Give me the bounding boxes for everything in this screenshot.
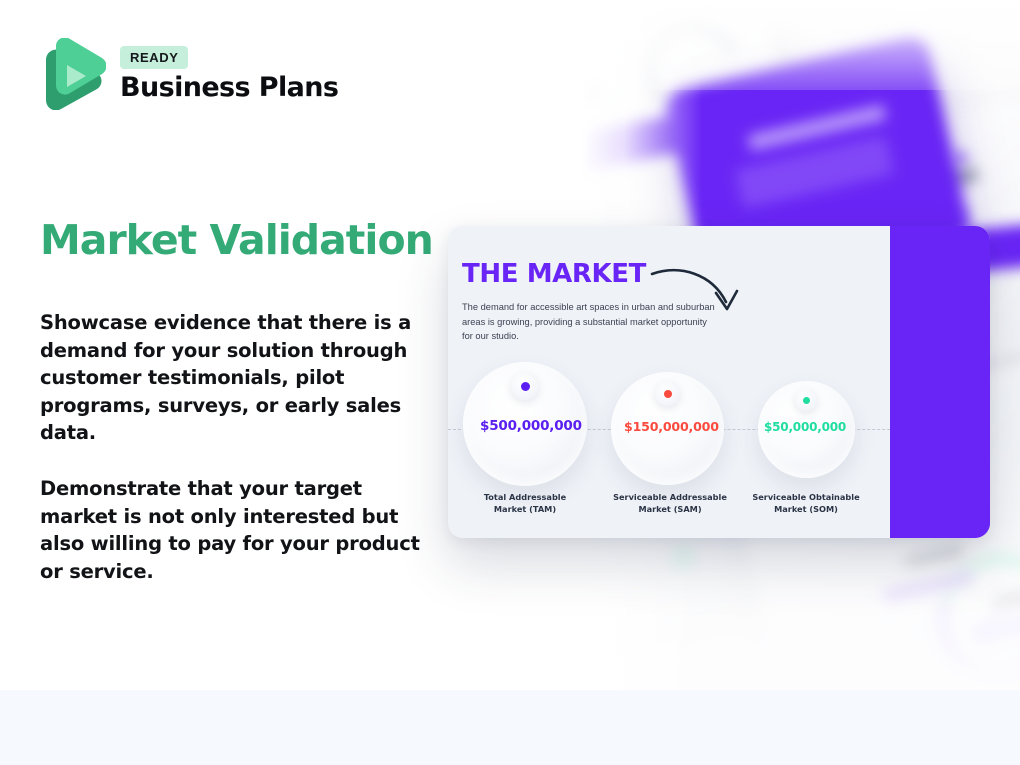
market-amount-tam: $500,000,000	[480, 418, 582, 434]
market-label-som: Serviceable Obtainable Market (SOM)	[726, 491, 886, 515]
bubble-knob	[511, 372, 539, 400]
market-label-tam-line2: Market (TAM)	[445, 503, 605, 515]
bubble-knob	[655, 381, 680, 406]
play-triangle-logo-icon	[40, 38, 106, 110]
slide-title: THE MARKET	[462, 259, 646, 289]
brand-text-block: READY Business Plans	[120, 46, 338, 103]
market-dot-tam-icon	[521, 382, 530, 391]
brand-name: Business Plans	[120, 72, 338, 103]
market-label-tam-line1: Total Addressable	[445, 491, 605, 503]
curved-down-arrow-icon	[650, 266, 742, 327]
bg-dot-one	[954, 152, 967, 165]
market-label-som-line1: Serviceable Obtainable	[726, 491, 886, 503]
slide-accent-panel-overlay	[890, 228, 990, 537]
body-paragraph-2: Demonstrate that your target market is n…	[40, 475, 420, 585]
market-dot-sam-icon	[664, 390, 672, 398]
ready-badge: READY	[120, 46, 188, 69]
market-dot-som-icon	[803, 397, 810, 404]
market-label-tam: Total Addressable Market (TAM)	[445, 491, 605, 515]
page-title: Market Validation	[40, 216, 433, 264]
slide-stage: READY Business Plans Market Validation S…	[0, 0, 1020, 765]
body-paragraph-1: Showcase evidence that there is a demand…	[40, 309, 420, 447]
bg-top-fade	[582, 0, 1020, 90]
market-label-som-line2: Market (SOM)	[726, 503, 886, 515]
brand-logo-lockup: READY Business Plans	[40, 38, 338, 110]
footer-band	[0, 690, 1020, 765]
market-amount-sam: $150,000,000	[624, 419, 719, 434]
market-amount-som: $50,000,000	[764, 420, 846, 434]
bubble-knob	[795, 389, 817, 411]
